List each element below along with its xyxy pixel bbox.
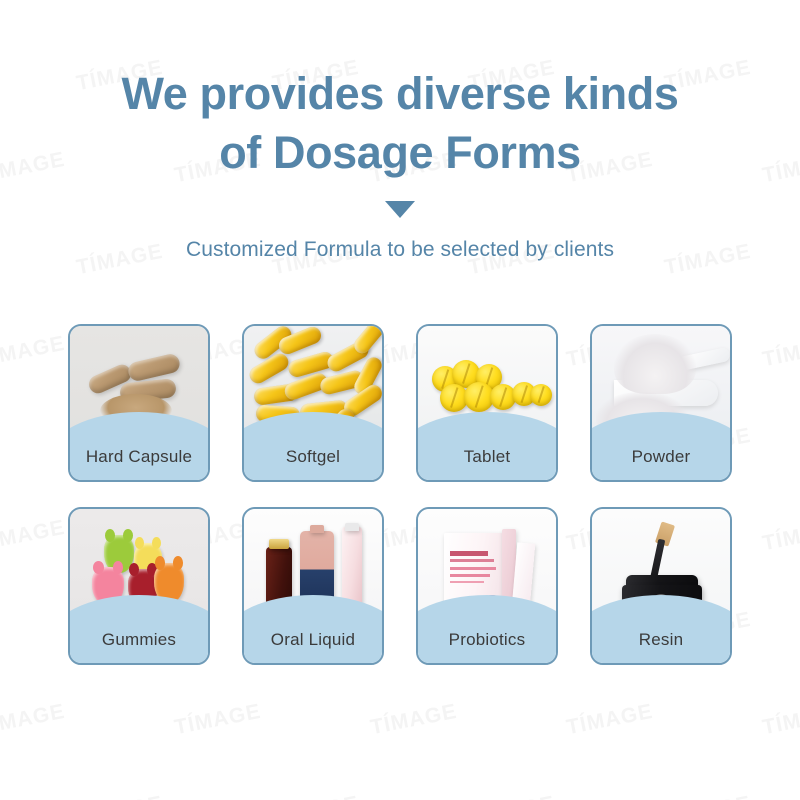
card-label-text: Resin <box>639 630 683 650</box>
page-title: We provides diverse kinds of Dosage Form… <box>0 64 800 183</box>
page-subtitle: Customized Formula to be selected by cli… <box>0 238 800 262</box>
card-label-text: Hard Capsule <box>86 447 192 467</box>
card-label-text: Oral Liquid <box>271 630 355 650</box>
card-label-text: Powder <box>632 447 691 467</box>
dosage-forms-page: We provides diverse kinds of Dosage Form… <box>0 0 800 800</box>
card-label-text: Probiotics <box>449 630 526 650</box>
dosage-card-resin[interactable]: Resin <box>590 507 732 665</box>
card-label-tablet: Tablet <box>418 434 556 480</box>
card-label-gummies: Gummies <box>70 617 208 663</box>
card-label-powder: Powder <box>592 434 730 480</box>
page-header: We provides diverse kinds of Dosage Form… <box>0 0 800 262</box>
dosage-card-softgel[interactable]: Softgel <box>242 324 384 482</box>
dosage-card-probiotics[interactable]: Probiotics <box>416 507 558 665</box>
page-title-line-2: of Dosage Forms <box>0 123 800 182</box>
card-label-softgel: Softgel <box>244 434 382 480</box>
card-label-resin: Resin <box>592 617 730 663</box>
dosage-form-card-grid: Hard Capsule <box>68 262 732 665</box>
triangle-down-icon <box>385 201 415 218</box>
card-label-probiotics: Probiotics <box>418 617 556 663</box>
dosage-card-powder[interactable]: Powder <box>590 324 732 482</box>
page-title-line-1: We provides diverse kinds <box>0 64 800 123</box>
card-label-hard-capsule: Hard Capsule <box>70 434 208 480</box>
card-label-text: Tablet <box>464 447 511 467</box>
card-label-text: Gummies <box>102 630 176 650</box>
dosage-card-hard-capsule[interactable]: Hard Capsule <box>68 324 210 482</box>
dosage-card-oral-liquid[interactable]: Oral Liquid <box>242 507 384 665</box>
dosage-card-tablet[interactable]: Tablet <box>416 324 558 482</box>
card-label-text: Softgel <box>286 447 340 467</box>
dosage-card-gummies[interactable]: Gummies <box>68 507 210 665</box>
card-label-oral-liquid: Oral Liquid <box>244 617 382 663</box>
